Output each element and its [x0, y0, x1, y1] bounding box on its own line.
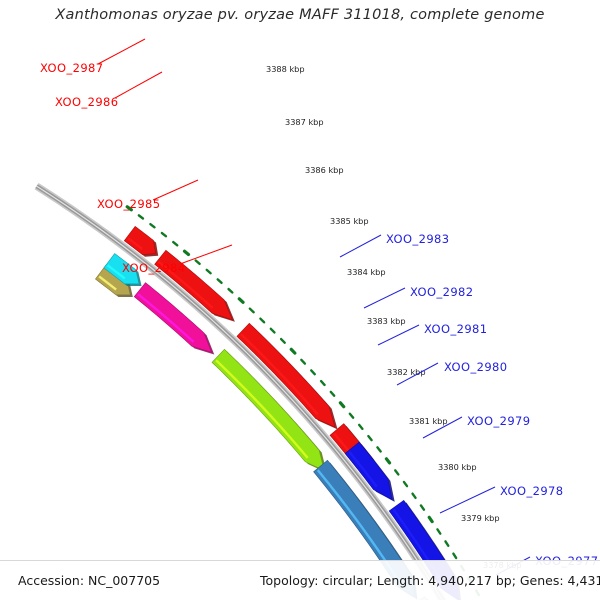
- ruler-tick-label: 3382 kbp: [387, 367, 426, 377]
- gene-label-xoo_2984[interactable]: XOO_2984: [122, 261, 185, 275]
- genome-stats-text: Topology: circular; Length: 4,940,217 bp…: [260, 573, 600, 588]
- ruler-tick-label: 3386 kbp: [305, 165, 344, 175]
- gene-label-xoo_2981[interactable]: XOO_2981: [424, 322, 487, 336]
- ruler-tick-label: 3384 kbp: [347, 267, 386, 277]
- ruler-tick-label: 3381 kbp: [409, 416, 448, 426]
- gene-label-xoo_2983[interactable]: XOO_2983: [386, 232, 449, 246]
- ruler-tick-label: 3383 kbp: [367, 316, 406, 326]
- accession-text: Accession: NC_007705: [18, 573, 160, 588]
- ruler-tick-label: 3388 kbp: [266, 64, 305, 74]
- ruler-tick-label: 3387 kbp: [285, 117, 324, 127]
- ruler-tick-label: 3380 kbp: [438, 462, 477, 472]
- footer-bar: Accession: NC_007705 Topology: circular;…: [0, 560, 600, 600]
- gene-label-xoo_2986[interactable]: XOO_2986: [55, 95, 118, 109]
- gene-label-xoo_2985[interactable]: XOO_2985: [97, 197, 160, 211]
- gene-label-xoo_2982[interactable]: XOO_2982: [410, 285, 473, 299]
- ruler-tick-label: 3379 kbp: [461, 513, 500, 523]
- gene-label-xoo_2978[interactable]: XOO_2978: [500, 484, 563, 498]
- genome-map-canvas[interactable]: 3388 kbp3387 kbp3386 kbp3385 kbp3384 kbp…: [0, 0, 600, 600]
- gene-label-xoo_2987[interactable]: XOO_2987: [40, 61, 103, 75]
- ruler-tick-label: 3385 kbp: [330, 216, 369, 226]
- footer-divider: [0, 560, 600, 561]
- map-background: [0, 0, 600, 600]
- gene-label-xoo_2979[interactable]: XOO_2979: [467, 414, 530, 428]
- gene-label-xoo_2980[interactable]: XOO_2980: [444, 360, 507, 374]
